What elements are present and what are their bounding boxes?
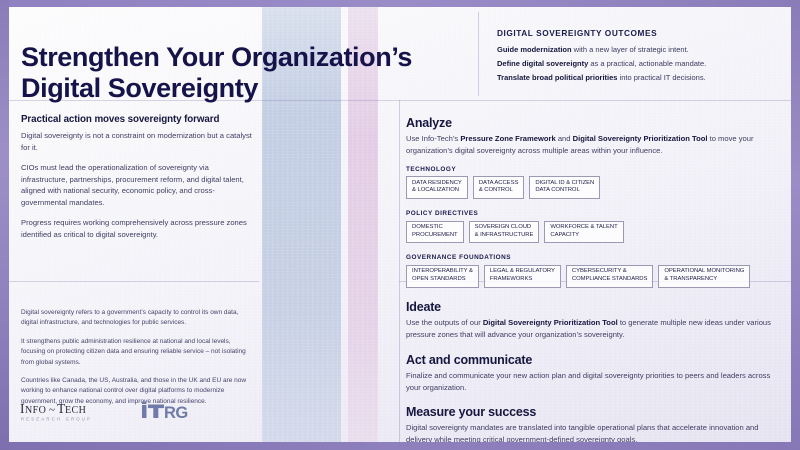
practical-action-paragraph: Digital sovereignty is not a constraint … <box>21 130 256 153</box>
pressure-zone-chip[interactable]: DOMESTIC PROCUREMENT <box>406 221 464 244</box>
pressure-zone-chip[interactable]: WORKFORCE & TALENT CAPACITY <box>544 221 623 244</box>
practical-action-paragraph: CIOs must lead the operationalization of… <box>21 162 256 208</box>
analyze-body-pre: Use Info-Tech’s <box>406 134 460 143</box>
measure-heading: Measure your success <box>406 405 776 419</box>
outcome-item: Translate broad political priorities int… <box>497 72 782 83</box>
group-label-policy-directives: POLICY DIRECTIVES <box>406 210 776 217</box>
svg-text:~: ~ <box>49 404 55 416</box>
outcome-item: Define digital sovereignty as a practica… <box>497 58 782 69</box>
svg-text:RG: RG <box>164 404 188 422</box>
outcome-item-rest: into practical IT decisions. <box>617 73 705 82</box>
definition-paragraph: Digital sovereignty refers to a governme… <box>21 308 249 329</box>
svg-text:RESEARCH GROUP: RESEARCH GROUP <box>21 417 92 422</box>
page-title-line-2: Digital Sovereignty <box>21 73 471 104</box>
act-heading: Act and communicate <box>406 353 776 367</box>
analyze-section: Analyze Use Info-Tech’s Pressure Zone Fr… <box>406 116 776 288</box>
measure-body: Digital sovereignty mandates are transla… <box>406 422 776 446</box>
outcome-item-bold: Define digital sovereignty <box>497 59 588 68</box>
pressure-zone-group-policy: POLICY DIRECTIVES DOMESTIC PROCUREMENT S… <box>406 210 776 243</box>
steps-section: Ideate Use the outputs of our Digital So… <box>406 300 776 446</box>
practical-action-heading: Practical action moves sovereignty forwa… <box>21 114 256 125</box>
group-label-technology: TECHNOLOGY <box>406 166 776 173</box>
analyze-body-mid: and <box>556 134 573 143</box>
info-tech-logo: I NFO ~ T ECH RESEARCH GROUP <box>20 400 124 424</box>
page-title: Strengthen Your Organization’s Digital S… <box>21 42 471 105</box>
outcome-item: Guide modernization with a new layer of … <box>497 44 782 55</box>
ideate-body: Use the outputs of our Digital Sovereign… <box>406 317 776 341</box>
outcomes-panel: DIGITAL SOVEREIGNTY OUTCOMES Guide moder… <box>497 28 782 86</box>
pressure-zone-group-technology: TECHNOLOGY DATA RESIDENCY & LOCALIZATION… <box>406 166 776 199</box>
practical-action-paragraph: Progress requires working comprehensivel… <box>21 217 256 240</box>
pressure-zone-chip[interactable]: CYBERSECURITY & COMPLIANCE STANDARDS <box>566 265 653 288</box>
definition-section: Digital sovereignty refers to a governme… <box>21 308 249 407</box>
act-and-communicate-section: Act and communicate Finalize and communi… <box>406 353 776 394</box>
chip-row-technology: DATA RESIDENCY & LOCALIZATION DATA ACCES… <box>406 176 776 199</box>
logo-row: I NFO ~ T ECH RESEARCH GROUP RG <box>20 400 204 424</box>
pressure-zone-chip[interactable]: INTEROPERABILITY & OPEN STANDARDS <box>406 265 479 288</box>
ideate-body-pre: Use the outputs of our <box>406 318 483 327</box>
ideate-section: Ideate Use the outputs of our Digital So… <box>406 300 776 341</box>
analyze-heading: Analyze <box>406 116 776 130</box>
analyze-body-bold-1: Pressure Zone Framework <box>460 134 555 143</box>
itrg-logo: RG <box>142 401 204 423</box>
measure-your-success-section: Measure your success Digital sovereignty… <box>406 405 776 446</box>
chip-row-governance: INTEROPERABILITY & OPEN STANDARDS LEGAL … <box>406 265 776 288</box>
pressure-zone-chip[interactable]: DIGITAL ID & CITIZEN DATA CONTROL <box>529 176 600 199</box>
outcome-item-bold: Guide modernization <box>497 45 572 54</box>
pressure-zone-group-governance: GOVERNANCE FOUNDATIONS INTEROPERABILITY … <box>406 254 776 287</box>
ideate-body-bold: Digital Sovereignty Prioritization Tool <box>483 318 618 327</box>
analyze-body-bold-2: Digital Sovereignty Prioritization Tool <box>573 134 708 143</box>
practical-action-section: Practical action moves sovereignty forwa… <box>21 114 256 240</box>
pressure-zone-chip[interactable]: LEGAL & REGULATORY FRAMEWORKS <box>484 265 561 288</box>
svg-text:ECH: ECH <box>65 405 86 416</box>
outcome-item-bold: Translate broad political priorities <box>497 73 617 82</box>
pressure-zone-chip[interactable]: DATA RESIDENCY & LOCALIZATION <box>406 176 468 199</box>
page-title-line-1: Strengthen Your Organization’s <box>21 42 412 72</box>
pressure-zone-chip[interactable]: OPERATIONAL MONITORING & TRANSPARENCY <box>658 265 750 288</box>
chip-row-policy: DOMESTIC PROCUREMENT SOVEREIGN CLOUD & I… <box>406 221 776 244</box>
act-body: Finalize and communicate your new action… <box>406 370 776 394</box>
outcome-item-rest: as a practical, actionable mandate. <box>588 59 706 68</box>
outcomes-heading: DIGITAL SOVEREIGNTY OUTCOMES <box>497 28 782 38</box>
pressure-zone-chip[interactable]: DATA ACCESS & CONTROL <box>473 176 525 199</box>
definition-paragraph: It strengthens public administration res… <box>21 337 249 368</box>
group-label-governance-foundations: GOVERNANCE FOUNDATIONS <box>406 254 776 261</box>
infographic-poster: Strengthen Your Organization’s Digital S… <box>0 0 800 450</box>
pressure-zone-chip[interactable]: SOVEREIGN CLOUD & INFRASTRUCTURE <box>469 221 540 244</box>
ideate-heading: Ideate <box>406 300 776 314</box>
outcome-item-rest: with a new layer of strategic intent. <box>572 45 689 54</box>
analyze-body: Use Info-Tech’s Pressure Zone Framework … <box>406 133 776 157</box>
svg-text:NFO: NFO <box>25 405 46 416</box>
